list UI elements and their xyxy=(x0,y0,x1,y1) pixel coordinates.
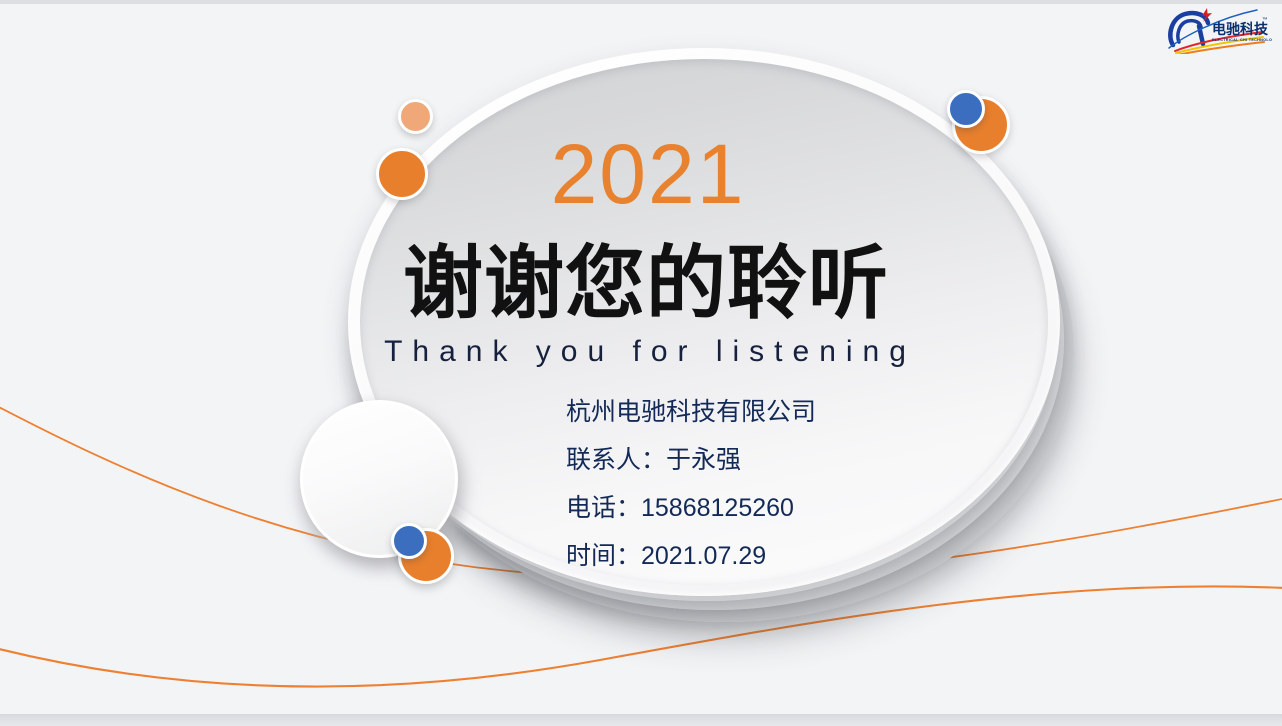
contact-phone: 电话：15868125260 xyxy=(566,484,816,532)
contact-date: 时间：2021.07.29 xyxy=(566,532,816,580)
page-subtitle: Thank you for listening xyxy=(18,334,1282,370)
logo-trademark: ™ xyxy=(1262,17,1268,23)
contact-person: 联系人：于永强 xyxy=(566,436,816,484)
logo-brand-cn: 电驰科技 xyxy=(1212,21,1269,37)
company-logo[interactable]: 电驰科技 ELECTRICAL CHI TECHNOLOGY ™ xyxy=(1164,6,1272,54)
peach-dot xyxy=(398,99,433,134)
logo-brand-en: ELECTRICAL CHI TECHNOLOGY xyxy=(1212,38,1272,42)
window-top-strip xyxy=(0,0,1282,4)
contact-company: 杭州电驰科技有限公司 xyxy=(566,388,816,436)
window-bottom-strip xyxy=(0,714,1282,726)
blue-dot-bottom xyxy=(391,523,427,559)
blue-dot-top-right xyxy=(947,90,985,128)
presentation-slide: 2021 谢谢您的聆听 Thank you for listening 杭州电驰… xyxy=(0,0,1282,726)
page-title: 谢谢您的聆听 xyxy=(10,244,1282,324)
contact-block: 杭州电驰科技有限公司 联系人：于永强 电话：15868125260 时间：202… xyxy=(566,388,816,580)
year-label: 2021 xyxy=(14,132,1282,216)
